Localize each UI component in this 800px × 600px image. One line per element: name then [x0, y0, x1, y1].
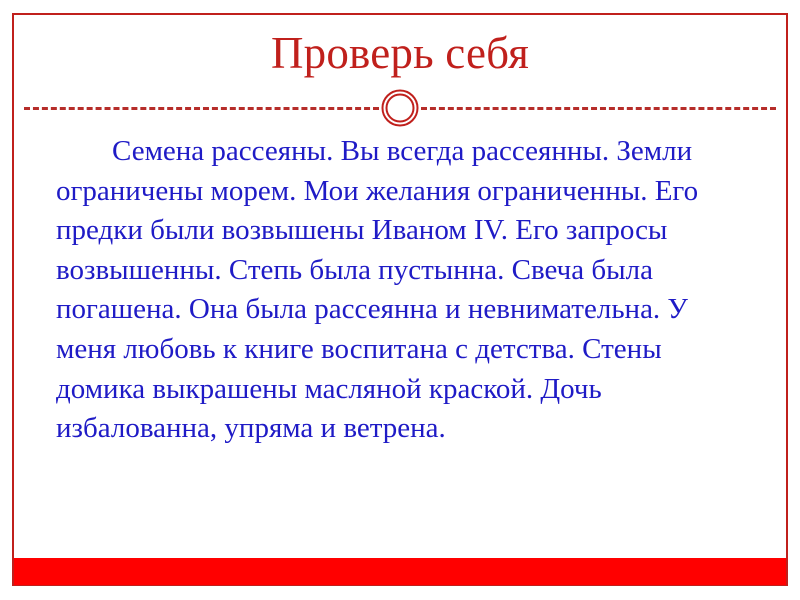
bottom-accent-bar — [14, 558, 786, 585]
divider-line-right — [421, 107, 776, 110]
page-title: Проверь себя — [271, 30, 529, 77]
ring-inner-circle — [386, 94, 415, 123]
divider-line-left — [24, 107, 379, 110]
body-paragraph: Семена рассеяны. Вы всегда рассеянны. Зе… — [56, 132, 740, 449]
double-circle-ornament-icon — [382, 90, 419, 127]
title-divider — [14, 100, 786, 117]
presentation-slide: Проверь себя Семена рассеяны. Вы всегда … — [0, 0, 800, 600]
slide-body-area: Семена рассеяны. Вы всегда рассеянны. Зе… — [56, 132, 740, 512]
slide-title-area: Проверь себя — [14, 16, 786, 92]
